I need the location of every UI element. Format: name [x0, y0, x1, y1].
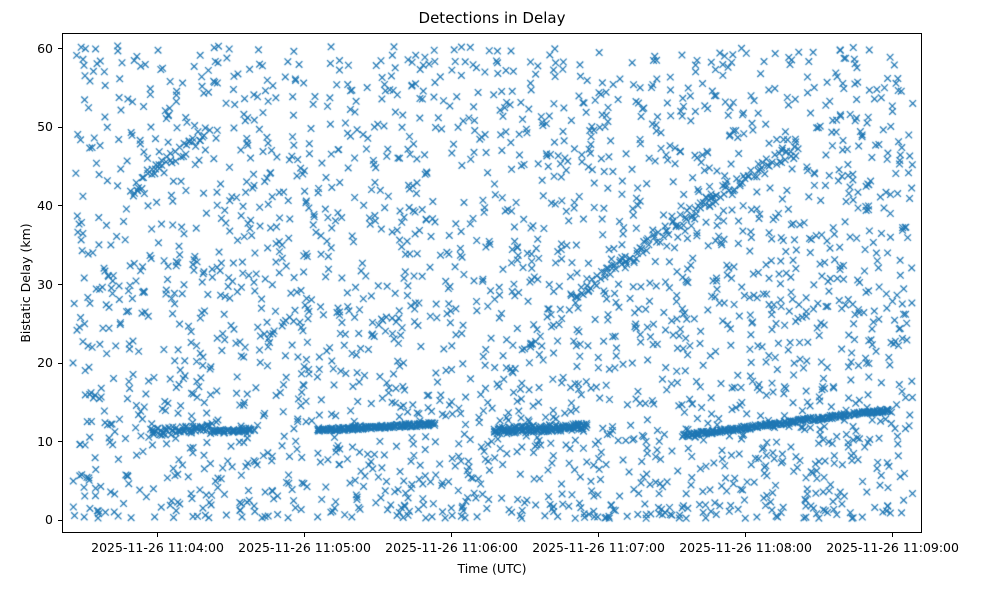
plot-axes[interactable]	[62, 33, 922, 533]
y-tick-mark	[58, 205, 62, 206]
x-axis-label: Time (UTC)	[62, 561, 922, 577]
matplotlib-figure: Detections in Delay 0102030405060 2025-1…	[0, 0, 988, 590]
x-tick-mark	[157, 533, 158, 537]
y-tick-label: 30	[37, 276, 53, 294]
y-tick-mark	[58, 363, 62, 364]
x-tick-mark	[745, 533, 746, 537]
y-tick-mark	[58, 441, 62, 442]
y-tick-label: 10	[37, 433, 53, 451]
y-tick-mark	[58, 127, 62, 128]
x-tick-mark	[598, 533, 599, 537]
y-tick-label: 50	[37, 118, 53, 136]
page-title: Detections in Delay	[62, 9, 922, 27]
x-tick-mark	[304, 533, 305, 537]
y-tick-mark	[58, 48, 62, 49]
x-tick-label: 2025-11-26 11:04:00	[78, 539, 238, 557]
y-tick-label: 0	[45, 511, 53, 529]
scatter-plot-canvas[interactable]	[63, 34, 922, 533]
x-tick-label: 2025-11-26 11:06:00	[372, 539, 532, 557]
x-tick-mark	[451, 533, 452, 537]
x-tick-mark	[892, 533, 893, 537]
x-tick-label: 2025-11-26 11:08:00	[666, 539, 826, 557]
x-tick-label: 2025-11-26 11:05:00	[225, 539, 385, 557]
y-tick-label: 20	[37, 354, 53, 372]
x-tick-label: 2025-11-26 11:09:00	[813, 539, 973, 557]
chart-title-container: Detections in Delay	[62, 9, 922, 27]
y-tick-label: 40	[37, 197, 53, 215]
y-tick-label: 60	[37, 40, 53, 58]
y-tick-mark	[58, 520, 62, 521]
y-axis-label: Bistatic Delay (km)	[18, 33, 34, 533]
x-tick-label: 2025-11-26 11:07:00	[519, 539, 679, 557]
y-tick-mark	[58, 284, 62, 285]
